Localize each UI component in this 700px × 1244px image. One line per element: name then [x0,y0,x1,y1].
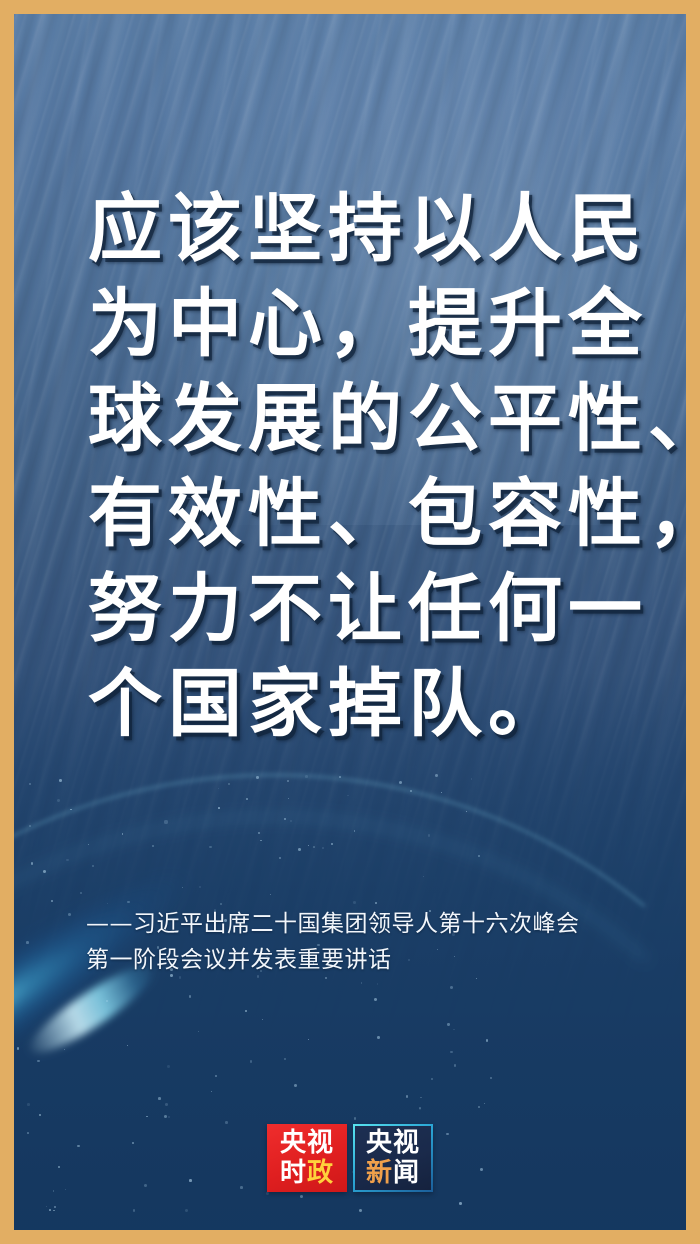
logo-xinwen-bottom-accent: 新 [366,1158,393,1188]
logo-cctv-shizheng[interactable]: 央视 时政 [267,1124,347,1192]
headline: 应该坚持以人民 为中心，提升全 球发展的公平性、 有效性、包容性， 努力不让任何… [88,182,648,752]
poster-frame: 应该坚持以人民 为中心，提升全 球发展的公平性、 有效性、包容性， 努力不让任何… [0,0,700,1244]
attribution: ——习近平出席二十国集团领导人第十六次峰会 第一阶段会议并发表重要讲话 [86,906,646,978]
headline-line-5: 努力不让任何一 [88,562,648,657]
logo-xinwen-bottom: 新闻 [366,1158,420,1188]
logo-xinwen-top-text: 央视 [366,1128,420,1158]
attribution-line-1: ——习近平出席二十国集团领导人第十六次峰会 [86,906,646,942]
attribution-line-2: 第一阶段会议并发表重要讲话 [86,942,646,978]
headline-line-3: 球发展的公平性、 [88,372,648,467]
logo-cctv-xinwen[interactable]: 央视 新闻 [353,1124,433,1192]
logo-group: 央视 时政 央视 新闻 [14,1124,686,1192]
logo-xinwen-bottom-white: 闻 [393,1158,420,1188]
poster-canvas: 应该坚持以人民 为中心，提升全 球发展的公平性、 有效性、包容性， 努力不让任何… [14,14,686,1230]
headline-line-6: 个国家掉队。 [88,657,648,752]
logo-shizheng-bottom: 时政 [280,1158,334,1188]
logo-shizheng-bottom-white: 时 [280,1158,307,1188]
logo-xinwen-top: 央视 [366,1128,420,1158]
logo-shizheng-top: 央视 [280,1128,334,1158]
logo-shizheng-top-text: 央视 [280,1128,334,1158]
headline-line-1: 应该坚持以人民 [88,182,648,277]
headline-line-4: 有效性、包容性， [88,467,648,562]
logo-shizheng-bottom-accent: 政 [307,1158,334,1188]
headline-line-2: 为中心，提升全 [88,277,648,372]
